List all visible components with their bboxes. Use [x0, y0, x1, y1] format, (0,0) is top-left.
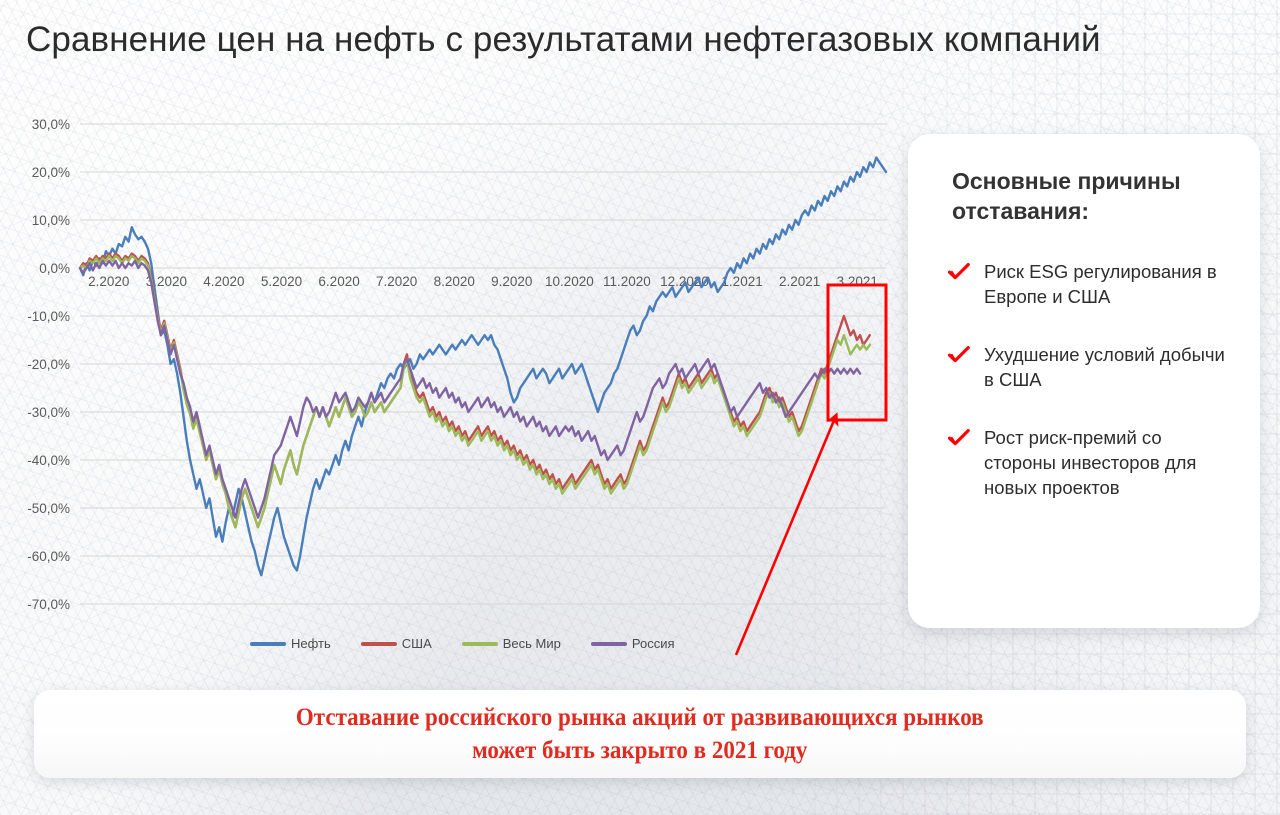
- reason-text: Рост риск-премий со стороны инвесторов д…: [984, 426, 1238, 500]
- reason-text: Ухудшение условий добычи в США: [984, 343, 1238, 392]
- x-axis-tick-label: 3.2021: [837, 274, 878, 289]
- reason-text: Риск ESG регулирования в Европе и США: [984, 260, 1238, 309]
- legend-item-США[interactable]: США: [361, 636, 432, 651]
- reasons-list: Риск ESG регулирования в Европе и СШАУху…: [948, 260, 1238, 534]
- highlight-rectangle: [828, 285, 886, 420]
- legend-swatch-icon: [462, 642, 498, 646]
- banner-line-1: Отставание российского рынка акций от ра…: [296, 704, 984, 731]
- check-icon: [948, 263, 970, 309]
- reason-item: Ухудшение условий добычи в США: [948, 343, 1238, 392]
- conclusion-banner: Отставание российского рынка акций от ра…: [34, 690, 1246, 778]
- y-axis-tick-label: 0,0%: [39, 261, 70, 276]
- legend-swatch-icon: [361, 642, 397, 646]
- conclusion-banner-text: Отставание российского рынка акций от ра…: [296, 701, 984, 767]
- x-axis-tick-label: 11.2020: [603, 274, 651, 289]
- x-axis-tick-label: 8.2020: [434, 274, 475, 289]
- legend-label: Весь Мир: [503, 636, 561, 651]
- legend-label: Россия: [632, 636, 675, 651]
- y-axis-tick-label: 20,0%: [32, 165, 70, 180]
- y-axis-tick-label: -10,0%: [27, 309, 70, 324]
- chart-panel: 30,0%20,0%10,0%0,0%-10,0%-20,0%-30,0%-40…: [0, 100, 900, 670]
- x-axis-tick-label: 1.2021: [721, 274, 762, 289]
- page-title: Сравнение цен на нефть с результатами не…: [26, 20, 1101, 60]
- check-icon: [948, 429, 970, 500]
- x-axis-tick-label: 10.2020: [545, 274, 594, 289]
- series-line-Россия: [80, 261, 860, 518]
- x-axis-tick-label: 2.2021: [779, 274, 820, 289]
- y-axis-tick-label: -70,0%: [27, 597, 70, 612]
- x-axis-tick-label: 2.2020: [88, 274, 129, 289]
- x-axis-tick-label: 5.2020: [261, 274, 302, 289]
- legend-item-Нефть[interactable]: Нефть: [250, 636, 331, 651]
- reasons-card-title: Основные причины отставания:: [952, 166, 1222, 227]
- x-axis-tick-label: 6.2020: [318, 274, 359, 289]
- line-chart: 30,0%20,0%10,0%0,0%-10,0%-20,0%-30,0%-40…: [0, 100, 900, 670]
- x-axis-tick-label: 7.2020: [376, 274, 417, 289]
- y-axis-tick-label: -50,0%: [27, 501, 70, 516]
- legend-label: США: [402, 636, 432, 651]
- callout-arrow: [736, 418, 835, 655]
- y-axis-tick-label: 10,0%: [32, 213, 70, 228]
- banner-line-2: может быть закрыто в 2021 году: [472, 737, 807, 764]
- reasons-card: Основные причины отставания: Риск ESG ре…: [908, 134, 1260, 628]
- y-axis-tick-label: -60,0%: [27, 549, 70, 564]
- legend-swatch-icon: [250, 642, 286, 646]
- x-axis-tick-label: 4.2020: [203, 274, 244, 289]
- x-axis-tick-label: 9.2020: [491, 274, 532, 289]
- y-axis-tick-label: -20,0%: [27, 357, 70, 372]
- y-axis-tick-label: -40,0%: [27, 453, 70, 468]
- legend-item-Россия[interactable]: Россия: [591, 636, 675, 651]
- check-icon: [948, 346, 970, 392]
- legend-item-Весь Мир[interactable]: Весь Мир: [462, 636, 561, 651]
- legend-swatch-icon: [591, 642, 627, 646]
- reason-item: Рост риск-премий со стороны инвесторов д…: [948, 426, 1238, 500]
- y-axis-tick-label: -30,0%: [27, 405, 70, 420]
- y-axis-tick-label: 30,0%: [32, 117, 70, 132]
- chart-legend: НефтьСШАВесь МирРоссия: [250, 636, 675, 651]
- legend-label: Нефть: [291, 636, 331, 651]
- reason-item: Риск ESG регулирования в Европе и США: [948, 260, 1238, 309]
